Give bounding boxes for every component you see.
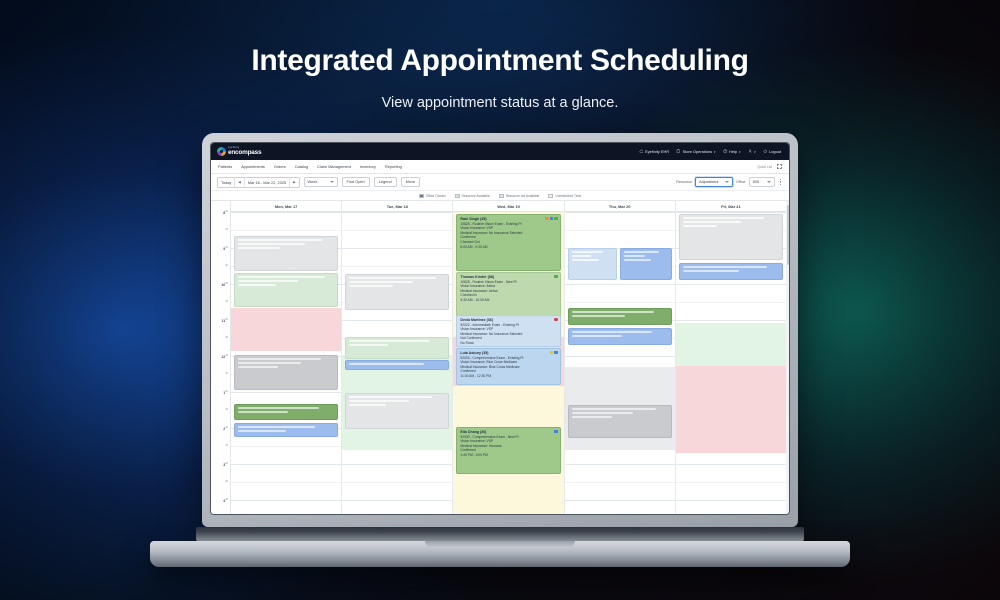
time-label: 30	[211, 264, 230, 269]
appointment-checkin-status: No Show	[460, 341, 556, 346]
legend-item-resource-available: Resource Available	[455, 194, 490, 198]
app-menubar: Patients Appointments Orders Catalog Cla…	[211, 160, 789, 174]
band-resource-not-available	[676, 366, 786, 453]
legend-label-resource-not-available: Resource not Available	[506, 194, 540, 198]
topbar-item-logout-label: Logout	[769, 149, 781, 154]
grid-line	[342, 212, 452, 213]
topbar-item-store-operations-label: Store Operations	[683, 149, 712, 154]
page-title: Integrated Appointment Scheduling	[0, 44, 1000, 78]
topbar-item-help[interactable]: ? Help ▾	[723, 149, 741, 154]
laptop-mockup: eyefinity encompass Eyefinity EHR Store …	[150, 133, 850, 567]
grid-line	[342, 266, 452, 267]
quick-list-label[interactable]: Quick List	[758, 165, 772, 169]
menu-item-orders[interactable]: Orders	[274, 164, 286, 169]
topbar-item-ehr-label: Eyefinity EHR	[645, 149, 669, 154]
appointment-time: 1:45 PM - 3:00 PM	[460, 453, 556, 458]
grid-line	[342, 320, 452, 321]
time-label: 1200	[211, 354, 230, 359]
brand-name: encompass	[228, 150, 261, 156]
legend-label-unrestricted-time: Unrestricted Time	[555, 194, 581, 198]
legend-item-office-closed: Office Closed	[419, 194, 446, 198]
encompass-logo-icon	[217, 147, 226, 156]
today-button[interactable]: Today	[218, 178, 235, 187]
encompass-app: eyefinity encompass Eyefinity EHR Store …	[211, 143, 789, 514]
grid-line	[231, 500, 341, 501]
cloud-icon	[639, 149, 644, 154]
time-label: 30	[211, 336, 230, 341]
time-label: 30	[211, 408, 230, 413]
appointment-badges	[550, 351, 558, 354]
band-resource-available	[676, 323, 786, 366]
laptop-hinge	[196, 527, 804, 541]
expand-icon[interactable]	[777, 164, 782, 169]
time-label: 300	[211, 462, 230, 467]
legend-swatch-resource-not-available	[499, 194, 504, 198]
chevron-down-icon	[330, 181, 334, 183]
appointment-time: 9:30 AM - 10:30 AM	[460, 298, 556, 303]
time-label: 30	[211, 300, 230, 305]
appointment-time: 11:30 AM - 12:30 PM	[460, 374, 556, 379]
grid-line	[676, 482, 786, 483]
grid-line	[676, 212, 786, 213]
laptop-lid: eyefinity encompass Eyefinity EHR Store …	[202, 133, 798, 527]
day-column-fri: Fri, Mar 21	[676, 201, 786, 514]
appointment-card-placeholder[interactable]	[234, 273, 338, 307]
resource-filter-label: Resource	[676, 180, 692, 184]
day-column-mon: Mon, Mar 17	[231, 201, 342, 514]
time-label: 30	[211, 444, 230, 449]
badge-blue-icon	[554, 430, 557, 433]
move-button[interactable]: Move	[401, 177, 421, 187]
appointment-card-lula-asbury[interactable]: Lula Asbury (35) 92004 - Comprehensive E…	[456, 348, 560, 385]
badge-blue-icon	[550, 217, 553, 220]
grid-line	[342, 500, 452, 501]
time-label: 800	[211, 210, 230, 215]
calendar-scrollbar[interactable]	[786, 201, 789, 514]
time-label: 30	[211, 480, 230, 485]
time-label: 400	[211, 498, 230, 503]
calendar-legend: Office Closed Resource Available Resourc…	[211, 191, 789, 200]
topbar-item-store-operations[interactable]: Store Operations ▾	[676, 149, 715, 154]
scrollbar-thumb[interactable]	[787, 205, 789, 265]
appointment-card-placeholder[interactable]	[620, 248, 672, 280]
legend-item-resource-not-available: Resource not Available	[499, 194, 540, 198]
date-range-label[interactable]: Mar 16 - Mar 22, 2025	[245, 178, 291, 187]
clipboard-icon	[676, 149, 681, 154]
day-grid-fri[interactable]	[676, 212, 786, 514]
time-label: 1000	[211, 282, 230, 287]
chevron-down-icon	[725, 181, 729, 183]
appointment-card-placeholder[interactable]	[234, 236, 338, 271]
time-label: 1100	[211, 318, 230, 323]
appointment-card-thomas-kinder[interactable]: Thomas Kinder (88) 10828 - Routine Visio…	[456, 272, 560, 318]
appointment-card-placeholder[interactable]	[679, 214, 783, 260]
time-label: 900	[211, 246, 230, 251]
time-label: 30	[211, 228, 230, 233]
appointment-card-placeholder[interactable]	[679, 263, 783, 280]
user-icon	[748, 149, 753, 154]
day-header-wed: Wed, Mar 19	[453, 201, 563, 212]
prev-period-button[interactable]: ◀	[235, 178, 244, 186]
time-label: 100	[211, 390, 230, 395]
grid-line	[231, 446, 341, 447]
legend-item-unrestricted-time: Unrestricted Time	[548, 194, 581, 198]
legend-label-office-closed: Office Closed	[426, 194, 446, 198]
day-column-wed: Wed, Mar 19 Ra	[453, 201, 564, 514]
appointment-card-placeholder[interactable]	[234, 355, 338, 390]
appointment-badges	[554, 430, 557, 433]
topbar-item-user[interactable]: ▾	[748, 149, 756, 154]
appointment-card-placeholder[interactable]	[345, 360, 449, 370]
topbar-item-logout[interactable]: Logout	[763, 149, 781, 154]
appointment-card-placeholder[interactable]	[345, 393, 449, 429]
appointment-card-ella-chang[interactable]: Ella Chang (26) 92030 - Comprehensive Ex…	[456, 427, 560, 474]
grid-line	[676, 320, 786, 321]
appointment-card-placeholder[interactable]	[234, 423, 338, 437]
day-header-thu: Thu, Mar 20	[565, 201, 675, 212]
appointment-card-placeholder[interactable]	[345, 274, 449, 310]
badge-red-icon	[554, 318, 557, 321]
badge-green-icon	[554, 217, 557, 220]
time-label: 200	[211, 426, 230, 431]
legend-swatch-unrestricted-time	[548, 194, 553, 198]
day-header-tue: Tue, Mar 18	[342, 201, 452, 212]
grid-line	[565, 284, 675, 285]
grid-line	[676, 284, 786, 285]
grid-line	[565, 500, 675, 501]
brand-logo[interactable]: eyefinity encompass	[217, 147, 261, 156]
chevron-down-icon	[767, 181, 771, 183]
menu-item-inventory[interactable]: Inventory	[360, 164, 376, 169]
more-options-icon[interactable]	[778, 179, 783, 185]
calendar-toolbar: Today ◀ Mar 16 - Mar 22, 2025 ▶ Week Fin…	[211, 174, 789, 191]
grid-line	[342, 464, 452, 465]
toolbar-filters: Resource Adjustment Office 500	[676, 177, 783, 187]
legend-button[interactable]: Legend	[374, 177, 397, 187]
appointment-badges	[554, 318, 557, 321]
grid-line	[231, 212, 341, 213]
appointment-card-dexia-martinez[interactable]: Dexia Martinez (36) 92022 - Intermediate…	[456, 315, 560, 347]
appointment-card-rani-singh[interactable]: Rani Singh (45) 10828 - Routine Vision E…	[456, 214, 560, 271]
topbar-actions: Eyefinity EHR Store Operations ▾ ? Help …	[639, 149, 783, 154]
appointment-card-placeholder[interactable]	[568, 308, 672, 325]
topbar-item-help-label: Help	[729, 149, 737, 154]
grid-line	[565, 356, 675, 357]
badge-blue-icon	[554, 351, 557, 354]
office-filter-label: Office	[736, 180, 746, 184]
appointment-badges	[554, 275, 557, 278]
legend-label-resource-available: Resource Available	[462, 194, 490, 198]
resource-select[interactable]: Adjustment	[695, 177, 733, 187]
grid-line	[676, 464, 786, 465]
appointment-card-placeholder[interactable]	[568, 248, 618, 280]
menu-item-catalog[interactable]: Catalog	[295, 164, 308, 169]
badge-yellow-icon	[550, 351, 553, 354]
webcam-notch	[465, 143, 535, 152]
day-header-fri: Fri, Mar 21	[676, 201, 786, 212]
day-header-mon: Mon, Mar 17	[231, 201, 341, 212]
band-resource-not-available	[231, 308, 341, 351]
grid-line	[231, 482, 341, 483]
resource-select-value: Adjustment	[699, 180, 718, 184]
help-circle-icon: ?	[723, 149, 728, 154]
appointment-card-placeholder[interactable]	[568, 405, 672, 438]
power-icon	[763, 149, 768, 154]
date-nav-group: Today ◀ Mar 16 - Mar 22, 2025 ▶	[217, 177, 300, 188]
grid-line	[231, 392, 341, 393]
badge-green-icon	[554, 275, 557, 278]
view-select-value: Week	[308, 180, 318, 184]
office-select[interactable]: 500	[749, 177, 775, 187]
legend-swatch-resource-available	[455, 194, 460, 198]
day-grid-tue[interactable]	[342, 212, 452, 514]
grid-line	[676, 500, 786, 501]
appointment-card-placeholder[interactable]	[345, 337, 449, 359]
badge-orange-icon	[545, 217, 548, 220]
menu-item-patients[interactable]: Patients	[218, 164, 232, 169]
appointment-badges	[545, 217, 557, 220]
office-select-value: 500	[753, 180, 760, 184]
find-open-button[interactable]: Find Open	[342, 177, 370, 187]
grid-line	[231, 230, 341, 231]
day-grid-wed[interactable]: Rani Singh (45) 10828 - Routine Vision E…	[453, 212, 563, 514]
menu-item-claim-management[interactable]: Claim Management	[317, 164, 351, 169]
day-columns: Mon, Mar 17	[231, 201, 786, 514]
grid-line	[565, 464, 675, 465]
day-grid-thu[interactable]	[565, 212, 675, 514]
time-gutter: 8003090030100030110030120030100302003030…	[211, 201, 231, 514]
appointment-card-placeholder[interactable]	[568, 328, 672, 345]
grid-line	[231, 464, 341, 465]
day-column-thu: Thu, Mar 20	[565, 201, 676, 514]
menu-item-appointments[interactable]: Appointments	[241, 164, 265, 169]
grid-line	[342, 248, 452, 249]
legend-swatch-office-closed	[419, 194, 424, 198]
grid-line	[565, 302, 675, 303]
page-subtitle: View appointment status at a glance.	[0, 95, 1000, 111]
view-select[interactable]: Week	[304, 177, 338, 187]
grid-line	[565, 212, 675, 213]
day-column-tue: Tue, Mar 18	[342, 201, 453, 514]
grid-line	[565, 482, 675, 483]
grid-line	[342, 230, 452, 231]
next-period-button[interactable]: ▶	[290, 178, 298, 186]
grid-line	[342, 482, 452, 483]
laptop-base	[150, 541, 850, 567]
menu-item-reporting[interactable]: Reporting	[385, 164, 402, 169]
hero-section: Integrated Appointment Scheduling View a…	[0, 0, 1000, 111]
topbar-item-ehr[interactable]: Eyefinity EHR	[639, 149, 670, 154]
grid-line	[676, 302, 786, 303]
laptop-screen: eyefinity encompass Eyefinity EHR Store …	[210, 142, 790, 515]
grid-line	[565, 230, 675, 231]
time-label: 30	[211, 372, 230, 377]
appointment-time: 8:00 AM - 9:30 AM	[460, 245, 556, 250]
calendar-grid: 8003090030100030110030120030100302003030…	[211, 200, 789, 514]
appointment-card-placeholder[interactable]	[234, 404, 338, 420]
day-grid-mon[interactable]	[231, 212, 341, 514]
